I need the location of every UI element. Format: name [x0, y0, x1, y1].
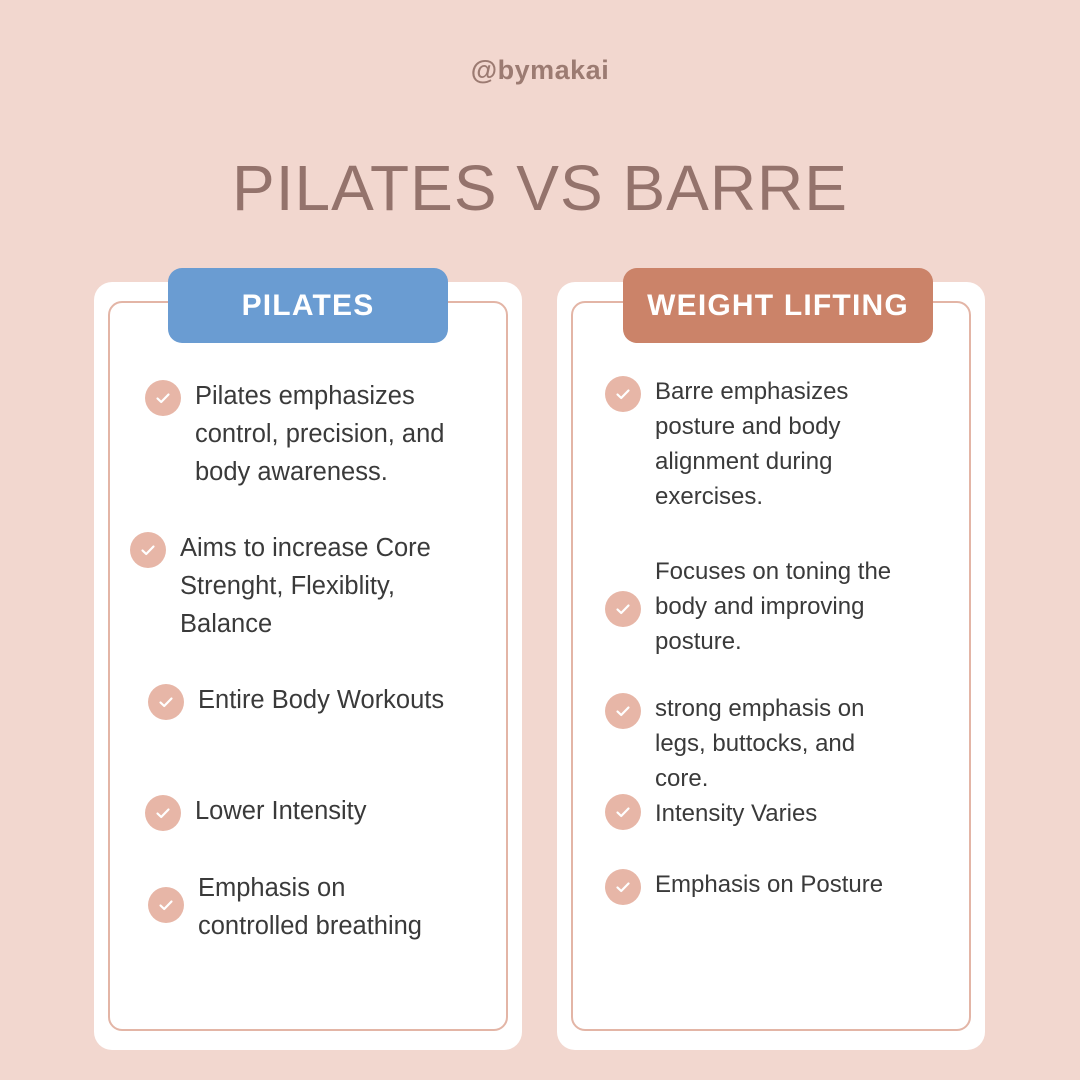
feature-list-pilates: Pilates emphasizes control, precision, a…	[126, 377, 500, 945]
list-item: Barre emphasizes posture and body alignm…	[585, 374, 963, 514]
comparison-card-weight-lifting: WEIGHT LIFTING Barre emphasizes posture …	[557, 282, 985, 1050]
list-item-text: Focuses on toning the body and improving…	[655, 554, 891, 659]
check-icon	[605, 693, 641, 729]
list-item-text: Barre emphasizes posture and body alignm…	[655, 374, 848, 514]
list-item: Emphasis on controlled breathing	[126, 869, 500, 945]
badge-weight-lifting: WEIGHT LIFTING	[623, 268, 933, 343]
check-icon	[130, 532, 166, 568]
check-icon	[145, 380, 181, 416]
list-item: Intensity Varies	[585, 796, 963, 831]
list-item-text: Emphasis on Posture	[655, 867, 883, 902]
list-item: Emphasis on Posture	[585, 867, 963, 905]
check-icon	[605, 591, 641, 627]
list-item: Aims to increase Core Strenght, Flexibli…	[126, 529, 500, 643]
list-item: strong emphasis on legs, buttocks, and c…	[585, 691, 963, 796]
list-item-text: Entire Body Workouts	[198, 681, 444, 719]
page-title: PILATES VS BARRE	[0, 151, 1080, 225]
list-item: Focuses on toning the body and improving…	[585, 554, 963, 659]
list-item-text: Aims to increase Core Strenght, Flexibli…	[180, 529, 431, 643]
list-item: Lower Intensity	[126, 792, 500, 831]
check-icon	[148, 684, 184, 720]
comparison-columns: PILATES Pilates emphasizes control, prec…	[0, 282, 1080, 1072]
list-item-text: Pilates emphasizes control, precision, a…	[195, 377, 444, 491]
list-item: Pilates emphasizes control, precision, a…	[126, 377, 500, 491]
badge-pilates: PILATES	[168, 268, 448, 343]
list-item-text: Lower Intensity	[195, 792, 367, 830]
check-icon	[605, 794, 641, 830]
list-item-text: Emphasis on controlled breathing	[198, 869, 422, 945]
list-item: Entire Body Workouts	[126, 681, 500, 720]
check-icon	[148, 887, 184, 923]
account-handle: @bymakai	[0, 55, 1080, 86]
comparison-card-pilates: PILATES Pilates emphasizes control, prec…	[94, 282, 522, 1050]
check-icon	[145, 795, 181, 831]
check-icon	[605, 869, 641, 905]
list-item-text: Intensity Varies	[655, 796, 817, 831]
feature-list-weight-lifting: Barre emphasizes posture and body alignm…	[585, 374, 963, 905]
check-icon	[605, 376, 641, 412]
list-item-text: strong emphasis on legs, buttocks, and c…	[655, 691, 864, 796]
